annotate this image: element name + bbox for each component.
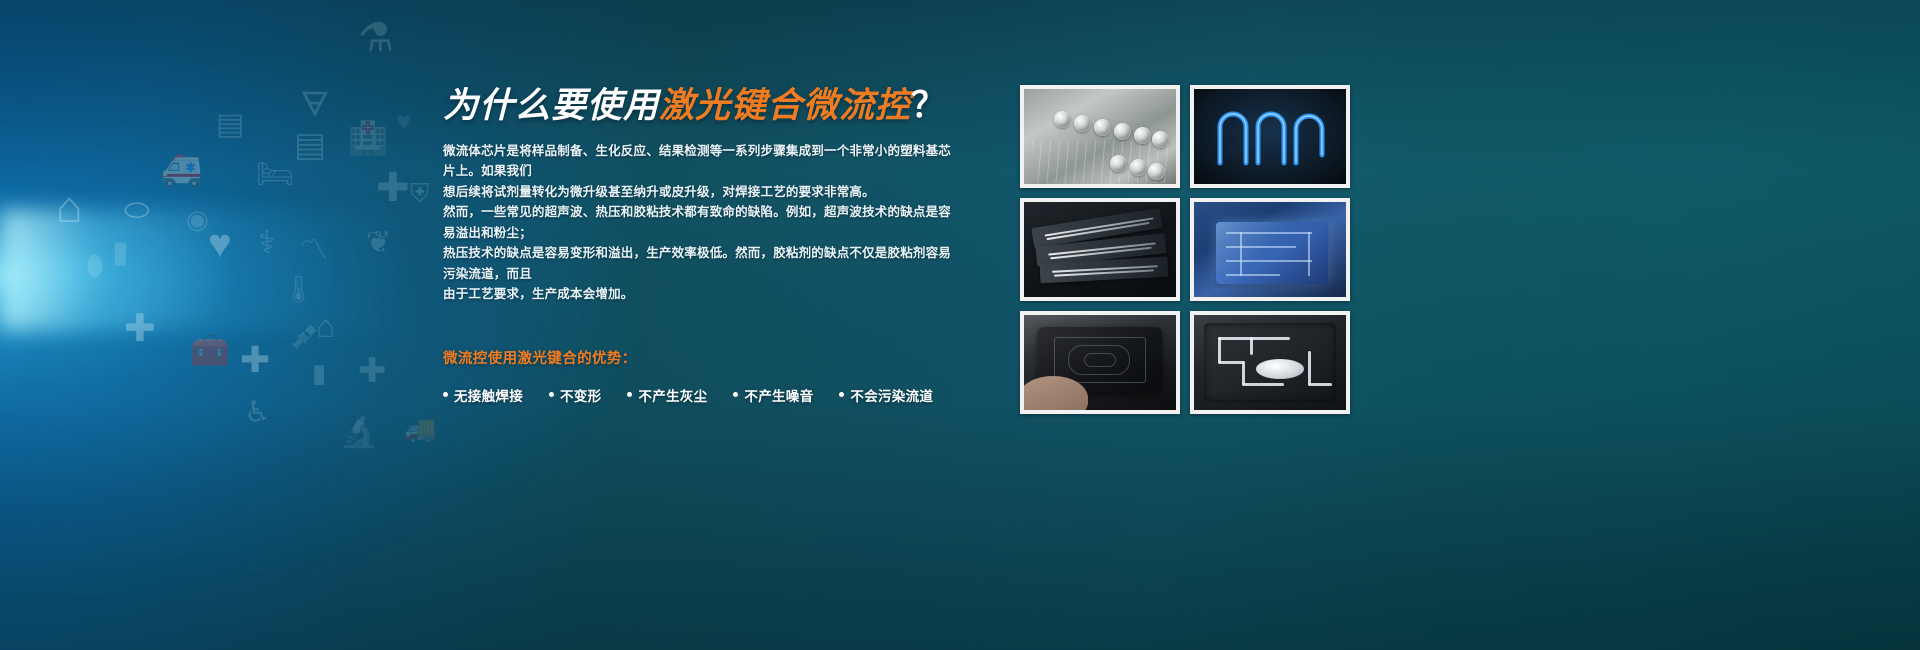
ambulance-icon: 🚑 — [160, 152, 202, 186]
thermometer-icon: 🌡 — [282, 276, 315, 302]
first-aid-kit-icon: 🧰 — [190, 334, 230, 366]
gallery-item[interactable] — [1190, 311, 1350, 414]
wheelchair-icon: ♿ — [244, 398, 271, 428]
gallery-item[interactable] — [1020, 311, 1180, 414]
stethoscope-icon: ⚕ — [258, 226, 275, 258]
banner-text-block: 为什么要使用激光键合微流控？ 微流体芯片是将样品制备、生化反应、结果检测等一系列… — [443, 86, 963, 405]
body-line-5: 由于工艺要求，生产成本会增加。 — [443, 284, 959, 305]
body-line-2: 想后续将试剂量转化为微升级甚至纳升或皮升级，对焊接工艺的要求非常高。 — [443, 182, 959, 203]
list-item: 无接触焊接 — [443, 385, 523, 405]
black-card-chip-in-hand-photo — [1024, 315, 1176, 410]
truck-icon: 🚚 — [404, 416, 436, 442]
list-item: 不会污染流道 — [839, 385, 933, 405]
gallery-item[interactable] — [1020, 198, 1180, 301]
list-item: 不变形 — [549, 385, 601, 405]
pill-icon: ⬭ — [124, 196, 150, 226]
list-item: 不产生噪音 — [733, 385, 813, 405]
house-plus-icon: ⌂ — [56, 186, 83, 230]
gallery-item[interactable] — [1190, 85, 1350, 188]
title-question-mark: ？ — [911, 86, 947, 125]
advantage-label: 不产生噪音 — [744, 385, 813, 405]
advantage-label: 不变形 — [560, 385, 601, 405]
hospital-building-icon: 🏥 — [348, 122, 388, 154]
ecg-line-icon: 〽 — [300, 236, 328, 264]
test-tube-icon: 🜃 — [300, 88, 330, 122]
battery-icon: ▮ — [112, 238, 129, 268]
bullet-dot-icon — [549, 392, 554, 397]
id-card-icon: ▤ — [216, 110, 244, 140]
dark-chip-oval-chamber-photo — [1194, 315, 1346, 410]
ecg-heart-icon: ♥ — [208, 224, 232, 264]
capsule-icon: ⬮ — [86, 252, 104, 280]
flask-icon: ⚗ — [358, 18, 394, 58]
clipboard-icon: ▤ — [294, 128, 326, 162]
plus-square-icon: ✚ — [358, 354, 387, 388]
shield-cross-icon: ⛨ — [410, 180, 430, 206]
list-item: 不产生灰尘 — [627, 385, 707, 405]
intro-paragraph: 微流体芯片是将样品制备、生化反应、结果检测等一系列步骤集成到一个非常小的塑料基芯… — [443, 141, 959, 305]
bullet-dot-icon — [839, 392, 844, 397]
advantage-label: 不产生灰尘 — [638, 385, 707, 405]
advantages-subheading: 微流控使用激光键合的优势： — [443, 347, 963, 368]
microfluidic-chip-wells-photo — [1024, 89, 1176, 184]
battery-small-icon: ▮ — [312, 360, 326, 386]
fanned-channel-chips-photo — [1024, 202, 1176, 297]
gallery-item[interactable] — [1190, 198, 1350, 301]
page-title: 为什么要使用激光键合微流控？ — [443, 86, 963, 127]
blue-serpentine-channel-photo — [1194, 89, 1346, 184]
medical-cross-icon: ✚ — [240, 342, 270, 378]
body-line-1: 微流体芯片是将样品制备、生化反应、结果检测等一系列步骤集成到一个非常小的塑料基芯… — [443, 141, 959, 182]
first-aid-cross-icon: ✚ — [124, 310, 156, 348]
promo-banner: ⚗ 🜃 ♥ ▤ ▤ 🏥 🚑 🛏 ✚ ⌂ ⬭ ◉ ♥ ⚕ 〽 ❦ ▮ ⬮ ✚ 🌡 … — [0, 0, 1920, 650]
title-lead: 为什么要使用 — [443, 86, 659, 125]
advantage-label: 无接触焊接 — [454, 385, 523, 405]
bed-icon: 🛏 — [256, 160, 294, 190]
body-line-3: 然而，一些常见的超声波、热压和胶粘技术都有致命的缺陷。例如，超声波技术的缺点是容… — [443, 202, 959, 243]
syringe-icon: 💉 — [290, 322, 322, 348]
advantages-list: 无接触焊接 不变形 不产生灰尘 不产生噪音 不会污染流道 — [443, 385, 963, 405]
bullet-dot-icon — [733, 392, 738, 397]
product-image-grid — [1020, 85, 1350, 414]
gallery-item[interactable] — [1020, 85, 1180, 188]
heart-icon: ♥ — [396, 108, 411, 134]
bullet-dot-icon — [443, 392, 448, 397]
blood-drop-icon: ◉ — [186, 206, 209, 232]
advantage-label: 不会污染流道 — [850, 385, 933, 405]
cross-icon: ✚ — [376, 168, 410, 208]
body-line-4: 热压技术的缺点是容易变形和溢出，生产效率极低。然而，胶粘剂的缺点不仅是胶粘剂容易… — [443, 243, 959, 284]
title-highlight: 激光键合微流控 — [659, 86, 911, 125]
microscope-icon: 🔬 — [340, 418, 377, 448]
bullet-dot-icon — [627, 392, 632, 397]
kidney-icon: ❦ — [366, 228, 391, 258]
blue-manifold-block-photo — [1194, 202, 1346, 297]
